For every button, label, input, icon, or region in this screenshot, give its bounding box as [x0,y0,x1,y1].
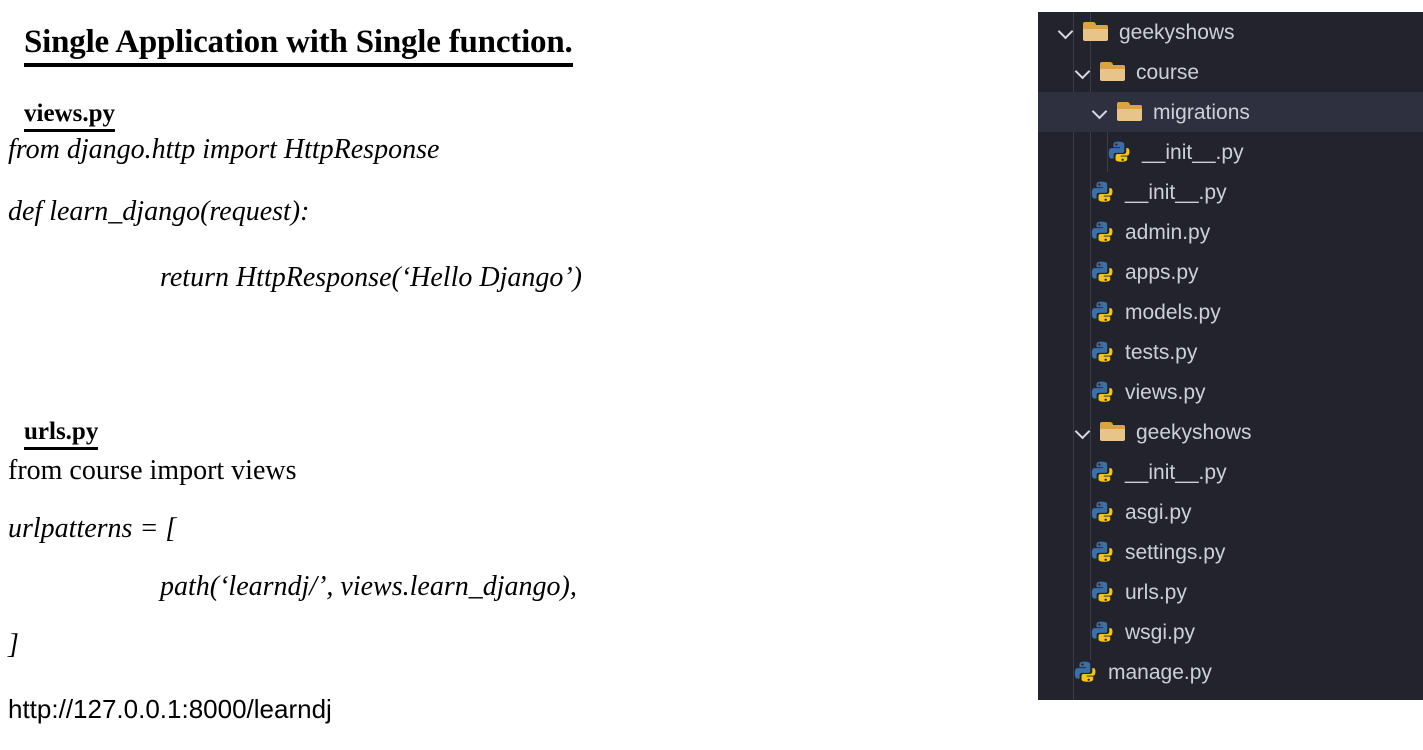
tree-row-label: geekyshows [1136,422,1252,443]
tree-row-manage-py[interactable]: manage.py [1038,652,1423,692]
page-title-wrap: Single Application with Single function. [8,6,573,85]
file-explorer-tree[interactable]: geekyshowscoursemigrations__init__.py__i… [1038,12,1423,700]
page-title: Single Application with Single function. [24,24,573,67]
chevron-down-icon[interactable] [1073,61,1095,83]
tree-row-admin-py[interactable]: admin.py [1038,212,1423,252]
tree-row-label: __init__.py [1125,182,1227,203]
python-file-icon [1090,219,1116,245]
python-file-icon [1090,339,1116,365]
python-file-icon [1090,379,1116,405]
urls-code-line-3: path(‘learndj/’, views.learn_django), [8,571,577,603]
tree-row-geekyshows[interactable]: geekyshows [1038,412,1423,452]
python-file-icon [1090,459,1116,485]
views-code-line-1: from django.http import HttpResponse [8,134,439,166]
tree-row-course[interactable]: course [1038,52,1423,92]
views-code-line-2: def learn_django(request): [8,196,309,228]
urls-code-line-1: from course import views [8,455,297,487]
chevron-down-icon[interactable] [1090,101,1112,123]
tree-row-views-py[interactable]: views.py [1038,372,1423,412]
chevron-down-icon[interactable] [1073,421,1095,443]
tree-row-label: models.py [1125,302,1221,323]
tree-row-label: apps.py [1125,262,1199,283]
local-server-url: http://127.0.0.1:8000/learndj [8,694,332,725]
tree-row-label: migrations [1153,102,1250,123]
python-file-icon [1090,179,1116,205]
folder-icon [1099,61,1127,83]
chevron-down-icon[interactable] [1056,21,1078,43]
urls-code-line-2: urlpatterns = [ [8,513,176,545]
tree-row-geekyshows[interactable]: geekyshows [1038,12,1423,52]
tree-row-wsgi-py[interactable]: wsgi.py [1038,612,1423,652]
tree-row-models-py[interactable]: models.py [1038,292,1423,332]
folder-icon [1116,101,1144,123]
python-file-icon [1073,659,1099,685]
python-file-icon [1090,579,1116,605]
python-file-icon [1090,299,1116,325]
notes-panel: Single Application with Single function.… [8,0,1018,750]
tree-row-label: __init__.py [1125,462,1227,483]
tree-row-tests-py[interactable]: tests.py [1038,332,1423,372]
urls-file-heading: urls.py [24,418,98,450]
folder-icon [1099,421,1127,443]
tree-row-urls-py[interactable]: urls.py [1038,572,1423,612]
tree-row-label: views.py [1125,382,1206,403]
tree-row--init-py[interactable]: __init__.py [1038,172,1423,212]
tree-row-label: wsgi.py [1125,622,1195,643]
python-file-icon [1090,539,1116,565]
urls-code-line-4: ] [8,629,19,661]
python-file-icon [1107,139,1133,165]
tree-row--init-py[interactable]: __init__.py [1038,452,1423,492]
folder-icon [1082,21,1110,43]
views-file-heading: views.py [24,100,115,132]
tree-row-label: manage.py [1108,662,1212,683]
tree-row-label: urls.py [1125,582,1187,603]
tree-row--init-py[interactable]: __init__.py [1038,132,1423,172]
tree-row-migrations[interactable]: migrations [1038,92,1423,132]
tree-row-label: __init__.py [1142,142,1244,163]
python-file-icon [1090,619,1116,645]
tree-row-label: course [1136,62,1199,83]
python-file-icon [1090,499,1116,525]
python-file-icon [1090,259,1116,285]
tree-row-label: admin.py [1125,222,1210,243]
tree-row-label: geekyshows [1119,22,1235,43]
tree-row-label: tests.py [1125,342,1197,363]
tree-row-asgi-py[interactable]: asgi.py [1038,492,1423,532]
tree-row-label: asgi.py [1125,502,1192,523]
tree-row-label: settings.py [1125,542,1225,563]
views-code-line-3: return HttpResponse(‘Hello Django’) [8,262,582,294]
tree-row-apps-py[interactable]: apps.py [1038,252,1423,292]
tree-row-settings-py[interactable]: settings.py [1038,532,1423,572]
